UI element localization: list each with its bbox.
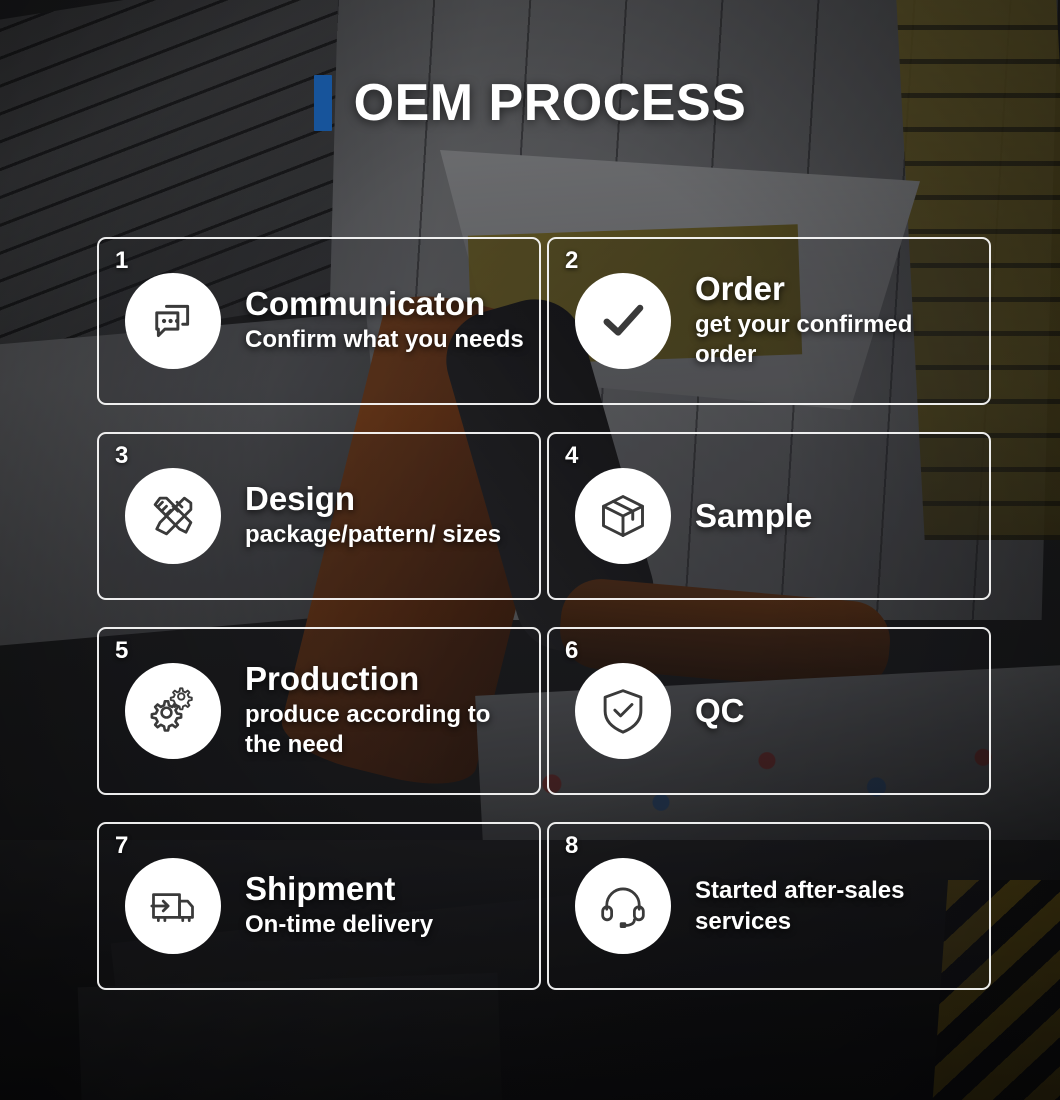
process-steps-grid: 1 Communicaton Confirm what you needs 2: [97, 237, 991, 990]
step-text: QC: [695, 693, 757, 730]
poster-content: OEM PROCESS 1 Communicaton Confirm what …: [0, 0, 1060, 1100]
step-number: 3: [115, 444, 128, 468]
step-number: 4: [565, 444, 578, 468]
step-number: 6: [565, 639, 578, 663]
check-mark-icon: [575, 273, 671, 369]
step-number: 7: [115, 834, 128, 858]
step-title: QC: [695, 693, 745, 730]
process-step-card[interactable]: 1 Communicaton Confirm what you needs: [97, 237, 541, 405]
step-title: Sample: [695, 498, 812, 535]
step-text: Production produce according to the need: [245, 661, 539, 761]
step-number: 5: [115, 639, 128, 663]
process-step-card[interactable]: 4 Sample: [547, 432, 991, 600]
page-header: OEM PROCESS: [0, 75, 1060, 131]
step-title: Production: [245, 661, 527, 698]
step-title: Shipment: [245, 871, 433, 908]
process-step-card[interactable]: 8 Started after-sales services: [547, 822, 991, 990]
step-text: Sample: [695, 498, 824, 535]
process-step-card[interactable]: 7 Shipment On-time delivery: [97, 822, 541, 990]
step-number: 1: [115, 249, 128, 273]
process-step-card[interactable]: 3 Design package/pattern/ sizes: [97, 432, 541, 600]
headset-icon: [575, 858, 671, 954]
accent-bar: [314, 75, 332, 131]
page-title: OEM PROCESS: [354, 77, 747, 129]
step-subtitle: produce according to the need: [245, 700, 527, 761]
step-number: 8: [565, 834, 578, 858]
process-step-card[interactable]: 2 Order get your confirmed order: [547, 237, 991, 405]
gears-icon: [125, 663, 221, 759]
step-title: Order: [695, 271, 975, 308]
chat-bubbles-icon: [125, 273, 221, 369]
box-package-icon: [575, 468, 671, 564]
step-text: Order get your confirmed order: [695, 271, 987, 371]
step-subtitle: Started after-sales services: [695, 876, 975, 937]
step-text: Communicaton Confirm what you needs: [245, 286, 536, 356]
step-subtitle: get your confirmed order: [695, 310, 975, 371]
step-text: Started after-sales services: [695, 874, 987, 937]
step-subtitle: package/pattern/ sizes: [245, 520, 501, 551]
shield-check-icon: [575, 663, 671, 759]
step-text: Design package/pattern/ sizes: [245, 481, 513, 551]
step-number: 2: [565, 249, 578, 273]
pencil-ruler-icon: [125, 468, 221, 564]
step-title: Design: [245, 481, 501, 518]
step-subtitle: On-time delivery: [245, 910, 433, 941]
process-step-card[interactable]: 6 QC: [547, 627, 991, 795]
step-subtitle: Confirm what you needs: [245, 325, 524, 356]
delivery-truck-icon: [125, 858, 221, 954]
step-text: Shipment On-time delivery: [245, 871, 445, 941]
step-title: Communicaton: [245, 286, 524, 323]
process-step-card[interactable]: 5 Production produce according to the ne…: [97, 627, 541, 795]
